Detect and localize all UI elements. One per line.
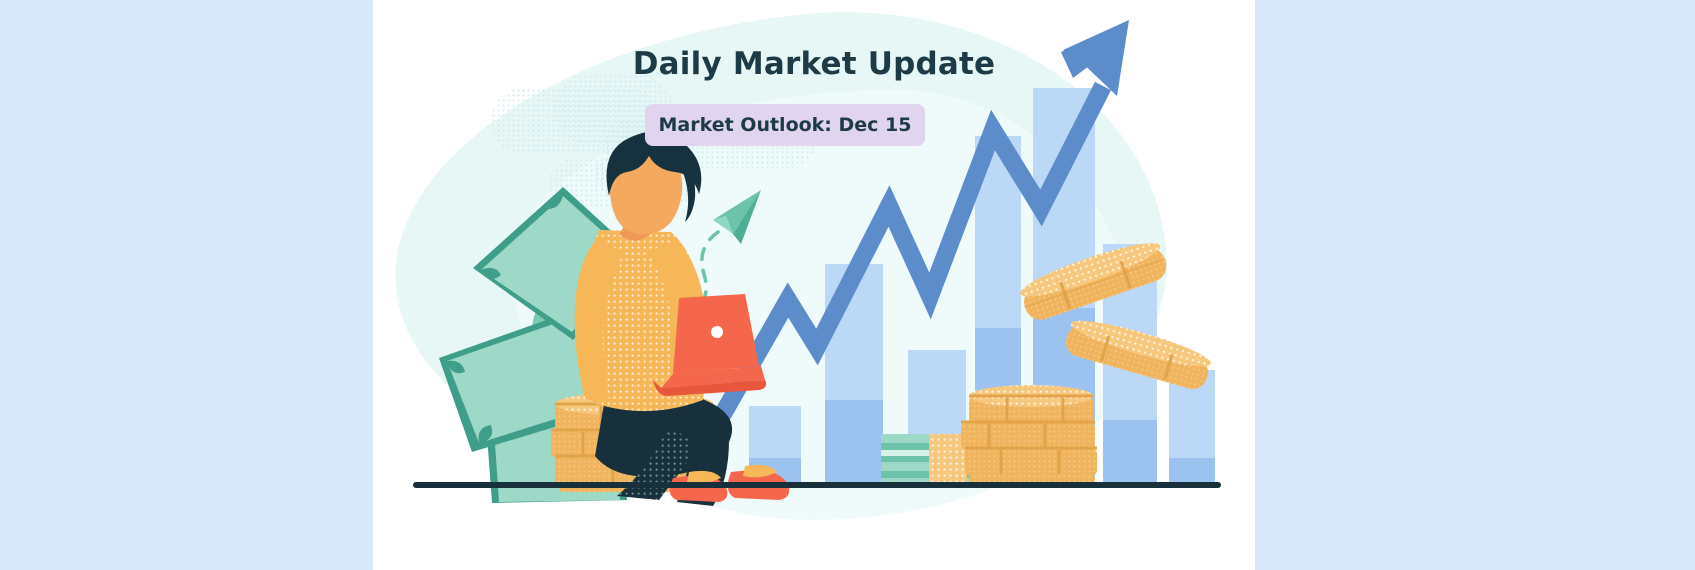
white-card: Daily Market Update Market Outlook: Dec … [373,0,1255,570]
person-with-laptop-icon [575,132,790,506]
page-title: Daily Market Update [373,46,1255,82]
floating-coin-icon [1016,234,1170,324]
floating-coin-icon [1062,313,1214,393]
banner-canvas: Daily Market Update Market Outlook: Dec … [0,0,1695,570]
coin-stack-right-icon [961,385,1097,488]
baseline-rule [413,482,1221,488]
status-badge: Market Outlook: Dec 15 [645,104,925,146]
paper-plane-icon [713,190,761,244]
rising-trend-arrow-icon [708,20,1129,440]
